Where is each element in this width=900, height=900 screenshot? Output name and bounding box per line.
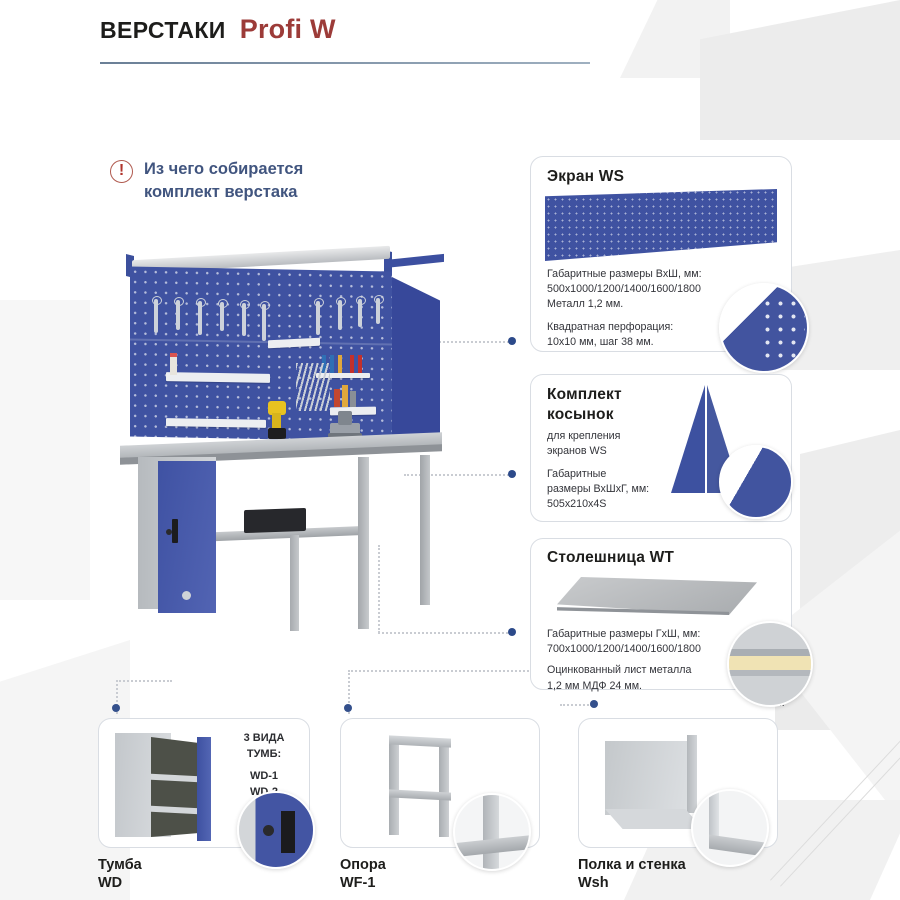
- support-label-line-2: WF-1: [340, 874, 386, 892]
- label-cabinet-wd: Тумба WD: [98, 856, 142, 892]
- wrench-icon: [176, 300, 180, 330]
- cabinet-label-line-2: WD: [98, 874, 142, 892]
- shelf-label-line-1: Полка и стенка: [578, 856, 686, 874]
- bench-leg-far: [420, 455, 430, 605]
- gusset-detail-magnifier: [719, 445, 793, 519]
- wrench-icon: [154, 299, 158, 333]
- cabinet-lock-icon: [166, 529, 172, 535]
- gussets-spec-line-5: 505х210х4S: [547, 497, 677, 512]
- page-header: ВЕРСТАКИ Profi W: [100, 14, 336, 45]
- screen-ws-illustration: [545, 189, 777, 261]
- card-worktop-specs: Габаритные размеры ГхШ, мм: 700x1000/120…: [547, 627, 747, 694]
- connector-line-cabinet-horizontal: [116, 680, 172, 682]
- card-gussets-specs: Габаритные размеры ВхШхГ, мм: 505х210х4S: [547, 467, 677, 513]
- wrench-icon: [358, 299, 362, 327]
- screen-spec-line-1: Габаритные размеры ВхШ, мм:: [547, 267, 747, 282]
- worktop-spec-line-3: Оцинкованный лист металла: [547, 663, 747, 678]
- screwdriver-icon: [330, 355, 334, 375]
- section-subtitle: ! Из чего собирается комплект верстака: [110, 158, 303, 204]
- screen-spec-line-3: Металл 1,2 мм.: [547, 297, 747, 312]
- lamp-bracket-top: [384, 254, 444, 268]
- label-support-wf1: Опора WF-1: [340, 856, 386, 892]
- screen-ws-perforated-face: [545, 189, 777, 261]
- worktop-layer-magnifier: [727, 621, 813, 707]
- screen-spec-line-5: 10х10 мм, шаг 38 мм.: [547, 335, 747, 350]
- shelf-label-line-2: Wsh: [578, 874, 686, 892]
- cabinet-lock-magnifier: [237, 791, 315, 869]
- connector-line-shelf: [560, 704, 592, 706]
- cabinet-note-line-2: ТУМБ:: [225, 747, 303, 763]
- support-label-line-1: Опора: [340, 856, 386, 874]
- connector-node-shelf: [590, 700, 598, 708]
- pegboard-side-panel: [392, 277, 440, 445]
- bench-leg-right: [358, 457, 369, 629]
- product-diagram-page: ВЕРСТАКИ Profi W ! Из чего собирается ко…: [0, 0, 900, 900]
- screen-spec-line-4: Квадратная перфорация:: [547, 320, 747, 335]
- section-subtitle-text: Из чего собирается комплект верстака: [144, 158, 303, 204]
- pegboard-tray-lower: [166, 418, 266, 428]
- subtitle-line-2: комплект верстака: [144, 181, 303, 204]
- wrench-icon: [338, 300, 342, 330]
- bottle-icon: [334, 389, 340, 407]
- label-shelf-wsh: Полка и стенка Wsh: [578, 856, 686, 892]
- shelf-wsh-back-wall: [605, 741, 689, 815]
- bench-leg-middle: [290, 535, 299, 631]
- card-gusset-kit: Комплект косынок для крепления экранов W…: [530, 374, 792, 522]
- cabinet-label-line-1: Тумба: [98, 856, 142, 874]
- gussets-spec-line-4: размеры ВхШхГ, мм:: [547, 482, 677, 497]
- screen-spec-line-2: 500x1000/1200/1400/1600/1800: [547, 282, 747, 297]
- tool-case: [244, 508, 306, 533]
- bg-shape-left: [0, 300, 90, 600]
- magnifier-handle-detail: [281, 811, 295, 853]
- card-worktop-wt: Столешница WT Габаритные размеры ГхШ, мм…: [530, 538, 792, 690]
- gussets-spec-line-2: экранов WS: [547, 444, 667, 459]
- support-joint-magnifier: [453, 793, 531, 871]
- connector-node-support: [344, 704, 352, 712]
- subtitle-line-1: Из чего собирается: [144, 158, 303, 181]
- gussets-spec-line-1: для крепления: [547, 429, 667, 444]
- card-gussets-title: Комплект косынок: [547, 385, 622, 426]
- connector-node-screen: [508, 337, 516, 345]
- worktop-spec-line-2: 700x1000/1200/1400/1600/1800: [547, 642, 747, 657]
- bottle-icon: [342, 385, 348, 407]
- support-leg-right: [439, 741, 449, 837]
- wrench-icon: [376, 298, 380, 324]
- shelf-joint-magnifier: [691, 789, 769, 867]
- cabinet-handle: [172, 519, 178, 543]
- bg-shape-top-right: [700, 0, 900, 140]
- page-title: ВЕРСТАКИ Profi W: [100, 14, 336, 45]
- magnifier-shelf-detail: [709, 835, 769, 858]
- card-worktop-title: Столешница WT: [547, 549, 674, 567]
- card-support-wf1: [340, 718, 540, 848]
- gussets-spec-line-3: Габаритные: [547, 467, 677, 482]
- connector-line-support-horizontal: [348, 670, 548, 672]
- card-screen-ws: Экран WS Габаритные размеры ВхШ, мм: 500…: [530, 156, 792, 352]
- header-divider: [100, 62, 590, 64]
- connector-node-gussets: [508, 470, 516, 478]
- wrench-icon: [242, 303, 246, 336]
- cabinet-variant-1: WD-1: [225, 769, 303, 785]
- pegboard-tray-middle: [166, 372, 270, 383]
- gussets-title-line-2: косынок: [547, 405, 622, 425]
- shelf-wsh-edge: [687, 735, 697, 813]
- wrench-icon: [262, 304, 266, 341]
- galvanized-sheet-layer: [729, 649, 811, 656]
- screwdriver-icon: [350, 355, 354, 375]
- card-gussets-purpose: для крепления экранов WS: [547, 429, 667, 459]
- workbench-illustration: [120, 243, 450, 633]
- connector-node-cabinet: [112, 704, 120, 712]
- bottom-sheet-layer: [729, 670, 811, 676]
- screwdriver-icon: [338, 355, 342, 375]
- wrench-icon: [316, 301, 320, 335]
- cabinet-wd-door: [197, 737, 211, 841]
- cordless-drill-icon: [266, 401, 288, 441]
- card-screen-title: Экран WS: [547, 168, 624, 186]
- gussets-title-line-1: Комплект: [547, 385, 622, 405]
- magnifier-lock-detail: [263, 825, 274, 836]
- cabinet-foot: [182, 591, 191, 600]
- card-cabinet-wd: 3 ВИДА ТУМБ: WD-1 WD-2 WD-5: [98, 718, 310, 848]
- card-shelf-wsh: [578, 718, 778, 848]
- spray-can: [170, 353, 177, 375]
- card-screen-specs: Габаритные размеры ВхШ, мм: 500x1000/120…: [547, 267, 747, 350]
- wrench-icon: [198, 301, 202, 335]
- screen-perforation-magnifier: [719, 283, 809, 373]
- connector-node-worktop: [508, 628, 516, 636]
- magnifier-perforation-detail: [761, 297, 805, 363]
- wrench-set-rack: [296, 363, 330, 411]
- screwdriver-icon: [358, 355, 362, 375]
- worktop-spec-line-4: 1,2 мм МДФ 24 мм.: [547, 679, 747, 694]
- wrench-icon: [220, 302, 224, 331]
- page-title-primary: ВЕРСТАКИ: [100, 17, 226, 44]
- cabinet-note-line-1: 3 ВИДА: [225, 731, 303, 747]
- support-leg-left: [389, 737, 399, 835]
- bottle-icon: [350, 391, 356, 407]
- cabinet-wd-interior: [151, 737, 199, 837]
- exclamation-circle-icon: !: [110, 160, 133, 183]
- page-title-model: Profi W: [240, 14, 336, 45]
- worktop-spec-line-1: Габаритные размеры ГхШ, мм:: [547, 627, 747, 642]
- magnifier-post-detail: [483, 795, 499, 871]
- mdf-core-layer: [729, 655, 811, 671]
